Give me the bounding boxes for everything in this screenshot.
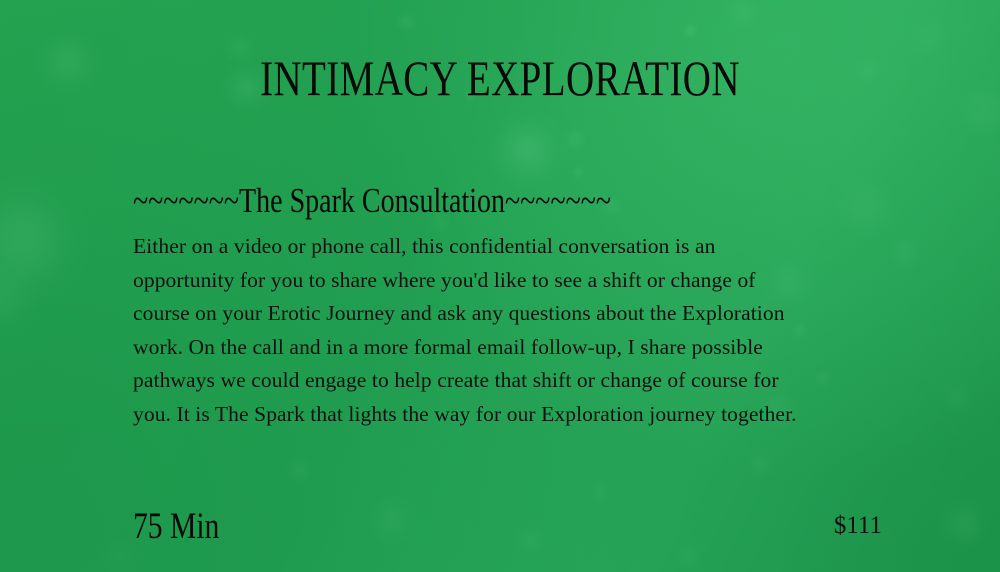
card-content: INTIMACY EXPLORATION ~~~~~~~The Spark Co… — [0, 0, 1000, 572]
service-subtitle: ~~~~~~~The Spark Consultation~~~~~~~ — [133, 182, 611, 221]
service-description: Either on a video or phone call, this co… — [133, 230, 813, 431]
page-title: INTIMACY EXPLORATION — [110, 52, 890, 104]
price-label: $111 — [834, 512, 882, 540]
duration-label: 75 Min — [133, 508, 219, 547]
service-card: INTIMACY EXPLORATION ~~~~~~~The Spark Co… — [0, 0, 1000, 572]
